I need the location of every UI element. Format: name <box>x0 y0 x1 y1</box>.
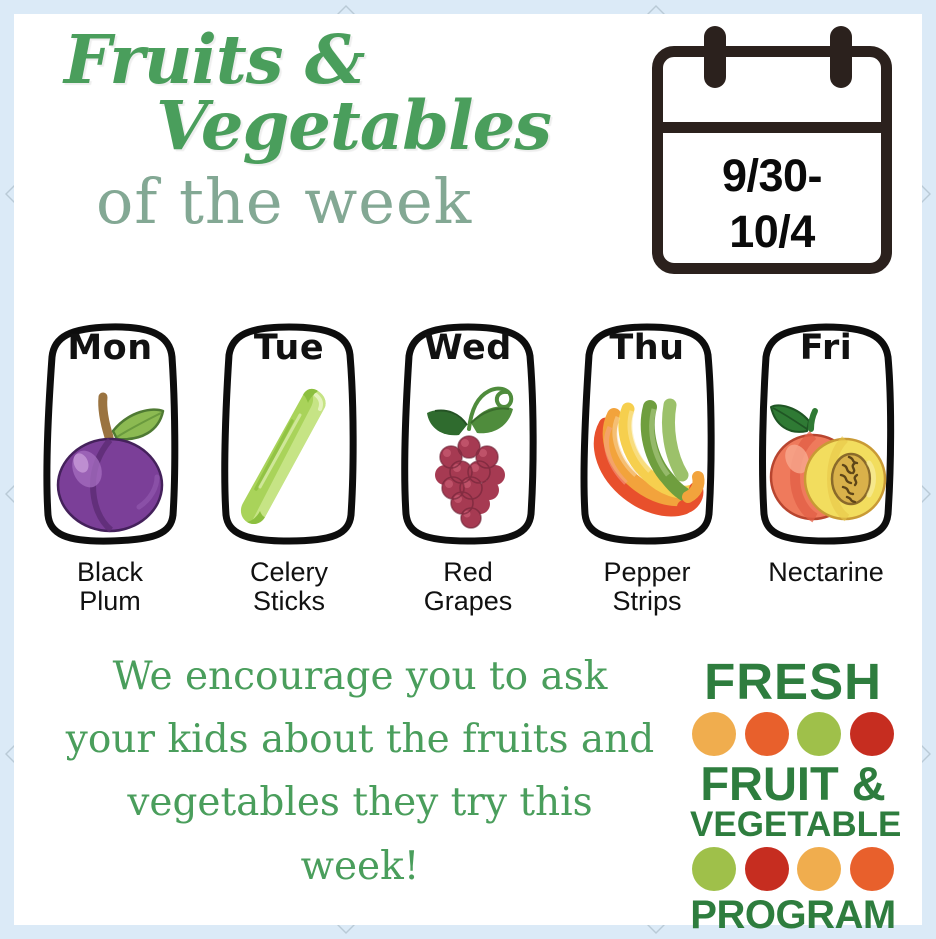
day-item-name: Black Plum <box>77 558 143 616</box>
nectarine-icon <box>763 377 889 535</box>
card-frame: Wed <box>388 319 548 547</box>
day-label: Tue <box>209 331 369 366</box>
plum-icon <box>47 377 173 535</box>
logo-dot <box>745 712 789 756</box>
calendar-date-range: 9/30- 10/4 <box>652 133 892 274</box>
poster-footer: We encourage you to ask your kids about … <box>14 639 922 925</box>
logo-dot <box>850 712 894 756</box>
pepper-strips-icon <box>584 377 710 535</box>
calendar-header-divider <box>652 122 892 133</box>
logo-dot-row-top <box>692 712 894 756</box>
title-line-2: Vegetables <box>38 94 618 158</box>
poster-header: Fruits & Vegetables of the week 9/30- 10… <box>14 14 922 304</box>
day-item-name: Celery Sticks <box>250 558 328 616</box>
day-card-wed[interactable]: Wed <box>386 319 550 619</box>
day-item-name: Nectarine <box>768 558 884 587</box>
calendar-date-line-1: 9/30- <box>722 149 822 202</box>
logo-line-fresh: FRESH <box>690 659 896 706</box>
title-block: Fruits & Vegetables of the week <box>38 28 618 233</box>
day-label: Fri <box>746 331 906 366</box>
card-frame: Mon <box>30 319 190 547</box>
logo-dot <box>745 847 789 891</box>
day-item-name: Pepper Strips <box>603 558 690 616</box>
grape-bunch-icon <box>405 377 531 535</box>
logo-dot <box>797 712 841 756</box>
logo-line-program: PROGRAM <box>690 897 896 934</box>
calendar-date-line-2: 10/4 <box>729 205 815 258</box>
card-frame: Fri <box>746 319 906 547</box>
poster-canvas: Fruits & Vegetables of the week 9/30- 10… <box>14 14 922 925</box>
logo-dot <box>797 847 841 891</box>
logo-dot <box>850 847 894 891</box>
day-label: Thu <box>567 331 727 366</box>
logo-dot <box>692 712 736 756</box>
ffvp-logo: FRESH FRUIT & VEGETABLE PROGRAM <box>690 659 896 934</box>
calendar-ring-left <box>704 26 726 88</box>
day-card-thu[interactable]: Thu <box>565 319 729 619</box>
day-card-tue[interactable]: Tue Celery Sticks <box>207 319 371 619</box>
day-label: Mon <box>30 331 190 366</box>
encouragement-text: We encourage you to ask your kids about … <box>62 645 658 898</box>
day-card-mon[interactable]: Mon <box>28 319 192 619</box>
poster-subtitle: of the week <box>38 171 618 233</box>
calendar-badge: 9/30- 10/4 <box>642 26 902 274</box>
day-label: Wed <box>388 331 548 366</box>
logo-dot <box>692 847 736 891</box>
card-frame: Tue <box>209 319 369 547</box>
day-item-name: Red Grapes <box>424 558 513 616</box>
logo-dot-row-bottom <box>692 847 894 891</box>
logo-line-vegetable: VEGETABLE <box>690 809 896 841</box>
title-line-1: Fruits & <box>38 28 618 92</box>
logo-line-fruit: FRUIT & <box>690 762 896 805</box>
calendar-ring-right <box>830 26 852 88</box>
poster-root: Fruits & Vegetables of the week 9/30- 10… <box>0 0 936 939</box>
day-card-fri[interactable]: Fri <box>744 319 908 619</box>
celery-stalk-icon <box>226 377 352 535</box>
day-card-row: Mon <box>14 319 922 619</box>
card-frame: Thu <box>567 319 727 547</box>
